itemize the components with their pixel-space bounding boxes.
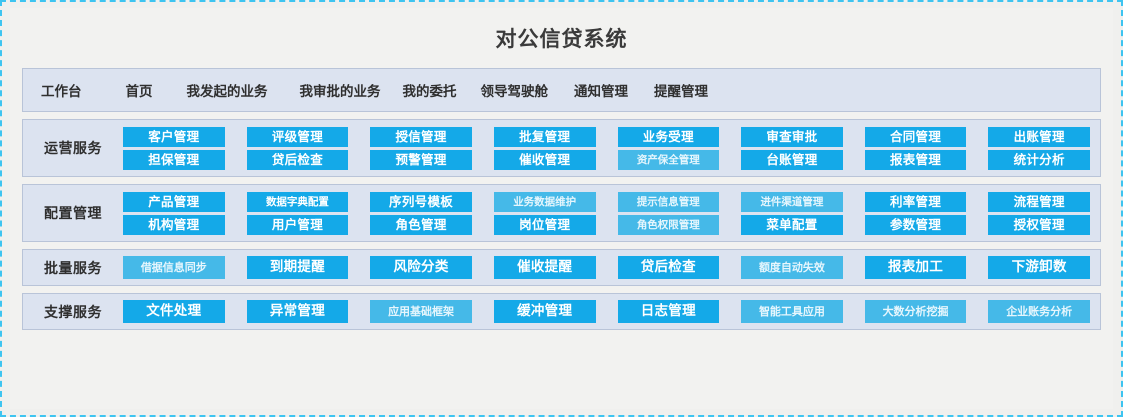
section-label: 批量服务 <box>23 258 123 278</box>
module-button[interactable]: 产品管理 <box>123 192 225 212</box>
module-button[interactable]: 资产保全管理 <box>618 150 720 170</box>
button-row: 产品管理数据字典配置序列号模板业务数据维护提示信息管理进件渠道管理利率管理流程管… <box>123 192 1090 212</box>
nav-item-8[interactable]: 提醒管理 <box>654 80 708 100</box>
button-row: 借据信息同步到期提醒风险分类催收提醒贷后检查额度自动失效报表加工下游卸数 <box>123 256 1090 279</box>
section-rows: 借据信息同步到期提醒风险分类催收提醒贷后检查额度自动失效报表加工下游卸数 <box>123 256 1090 279</box>
module-button[interactable]: 业务数据维护 <box>494 192 596 212</box>
module-button[interactable]: 报表加工 <box>865 256 967 279</box>
button-row: 担保管理贷后检查预警管理催收管理资产保全管理台账管理报表管理统计分析 <box>123 150 1090 170</box>
module-button[interactable]: 台账管理 <box>741 150 843 170</box>
module-button[interactable]: 用户管理 <box>247 215 349 235</box>
window-content: 对公信贷系统 工作台首页我发起的业务我审批的业务我的委托领导驾驶舱通知管理提醒管… <box>10 8 1113 409</box>
module-button[interactable]: 数据字典配置 <box>247 192 349 212</box>
module-button[interactable]: 统计分析 <box>988 150 1090 170</box>
module-button[interactable]: 合同管理 <box>865 127 967 147</box>
nav-item-1[interactable]: 工作台 <box>41 80 82 100</box>
section-1: 运营服务客户管理评级管理授信管理批复管理业务受理审查审批合同管理出账管理担保管理… <box>22 119 1101 177</box>
module-button[interactable]: 角色管理 <box>370 215 472 235</box>
module-button[interactable]: 评级管理 <box>247 127 349 147</box>
module-button[interactable]: 角色权限管理 <box>618 215 720 235</box>
section-label: 支撑服务 <box>23 302 123 322</box>
module-button[interactable]: 贷后检查 <box>618 256 720 279</box>
module-button[interactable]: 缓冲管理 <box>494 300 596 323</box>
main-navigation[interactable]: 工作台首页我发起的业务我审批的业务我的委托领导驾驶舱通知管理提醒管理 <box>22 68 1101 112</box>
nav-item-5[interactable]: 我的委托 <box>403 80 457 100</box>
module-button[interactable]: 进件渠道管理 <box>741 192 843 212</box>
nav-item-6[interactable]: 领导驾驶舱 <box>481 80 549 100</box>
button-row: 客户管理评级管理授信管理批复管理业务受理审查审批合同管理出账管理 <box>123 127 1090 147</box>
button-row: 机构管理用户管理角色管理岗位管理角色权限管理菜单配置参数管理授权管理 <box>123 215 1090 235</box>
module-button[interactable]: 企业账务分析 <box>988 300 1090 323</box>
module-button[interactable]: 参数管理 <box>865 215 967 235</box>
module-button[interactable]: 序列号模板 <box>370 192 472 212</box>
nav-item-2[interactable]: 首页 <box>126 80 153 100</box>
module-button[interactable]: 授信管理 <box>370 127 472 147</box>
section-rows: 产品管理数据字典配置序列号模板业务数据维护提示信息管理进件渠道管理利率管理流程管… <box>123 192 1090 235</box>
nav-item-7[interactable]: 通知管理 <box>574 80 628 100</box>
section-rows: 文件处理异常管理应用基础框架缓冲管理日志管理智能工具应用大数分析挖掘企业账务分析 <box>123 300 1090 323</box>
module-button[interactable]: 额度自动失效 <box>741 256 843 279</box>
module-button[interactable]: 借据信息同步 <box>123 256 225 279</box>
module-button[interactable]: 担保管理 <box>123 150 225 170</box>
module-button[interactable]: 报表管理 <box>865 150 967 170</box>
module-sections: 运营服务客户管理评级管理授信管理批复管理业务受理审查审批合同管理出账管理担保管理… <box>22 119 1101 330</box>
application-window: 对公信贷系统 工作台首页我发起的业务我审批的业务我的委托领导驾驶舱通知管理提醒管… <box>0 0 1123 417</box>
module-button[interactable]: 日志管理 <box>618 300 720 323</box>
module-button[interactable]: 授权管理 <box>988 215 1090 235</box>
module-button[interactable]: 出账管理 <box>988 127 1090 147</box>
title-bar: 对公信贷系统 <box>10 8 1113 68</box>
section-4: 支撑服务文件处理异常管理应用基础框架缓冲管理日志管理智能工具应用大数分析挖掘企业… <box>22 293 1101 330</box>
module-button[interactable]: 批复管理 <box>494 127 596 147</box>
section-label: 运营服务 <box>23 138 123 158</box>
module-button[interactable]: 到期提醒 <box>247 256 349 279</box>
module-button[interactable]: 提示信息管理 <box>618 192 720 212</box>
button-row: 文件处理异常管理应用基础框架缓冲管理日志管理智能工具应用大数分析挖掘企业账务分析 <box>123 300 1090 323</box>
module-button[interactable]: 利率管理 <box>865 192 967 212</box>
section-rows: 客户管理评级管理授信管理批复管理业务受理审查审批合同管理出账管理担保管理贷后检查… <box>123 127 1090 170</box>
section-2: 配置管理产品管理数据字典配置序列号模板业务数据维护提示信息管理进件渠道管理利率管… <box>22 184 1101 242</box>
module-button[interactable]: 预警管理 <box>370 150 472 170</box>
module-button[interactable]: 岗位管理 <box>494 215 596 235</box>
module-button[interactable]: 风险分类 <box>370 256 472 279</box>
module-button[interactable]: 异常管理 <box>247 300 349 323</box>
module-button[interactable]: 智能工具应用 <box>741 300 843 323</box>
module-button[interactable]: 应用基础框架 <box>370 300 472 323</box>
module-button[interactable]: 大数分析挖掘 <box>865 300 967 323</box>
page-title: 对公信贷系统 <box>496 23 628 53</box>
module-button[interactable]: 客户管理 <box>123 127 225 147</box>
nav-item-3[interactable]: 我发起的业务 <box>187 80 268 100</box>
module-button[interactable]: 下游卸数 <box>988 256 1090 279</box>
module-button[interactable]: 文件处理 <box>123 300 225 323</box>
module-button[interactable]: 贷后检查 <box>247 150 349 170</box>
section-label: 配置管理 <box>23 203 123 223</box>
module-button[interactable]: 机构管理 <box>123 215 225 235</box>
module-button[interactable]: 催收提醒 <box>494 256 596 279</box>
module-button[interactable]: 菜单配置 <box>741 215 843 235</box>
module-button[interactable]: 审查审批 <box>741 127 843 147</box>
nav-item-4[interactable]: 我审批的业务 <box>300 80 381 100</box>
module-button[interactable]: 业务受理 <box>618 127 720 147</box>
module-button[interactable]: 流程管理 <box>988 192 1090 212</box>
module-button[interactable]: 催收管理 <box>494 150 596 170</box>
section-3: 批量服务借据信息同步到期提醒风险分类催收提醒贷后检查额度自动失效报表加工下游卸数 <box>22 249 1101 286</box>
